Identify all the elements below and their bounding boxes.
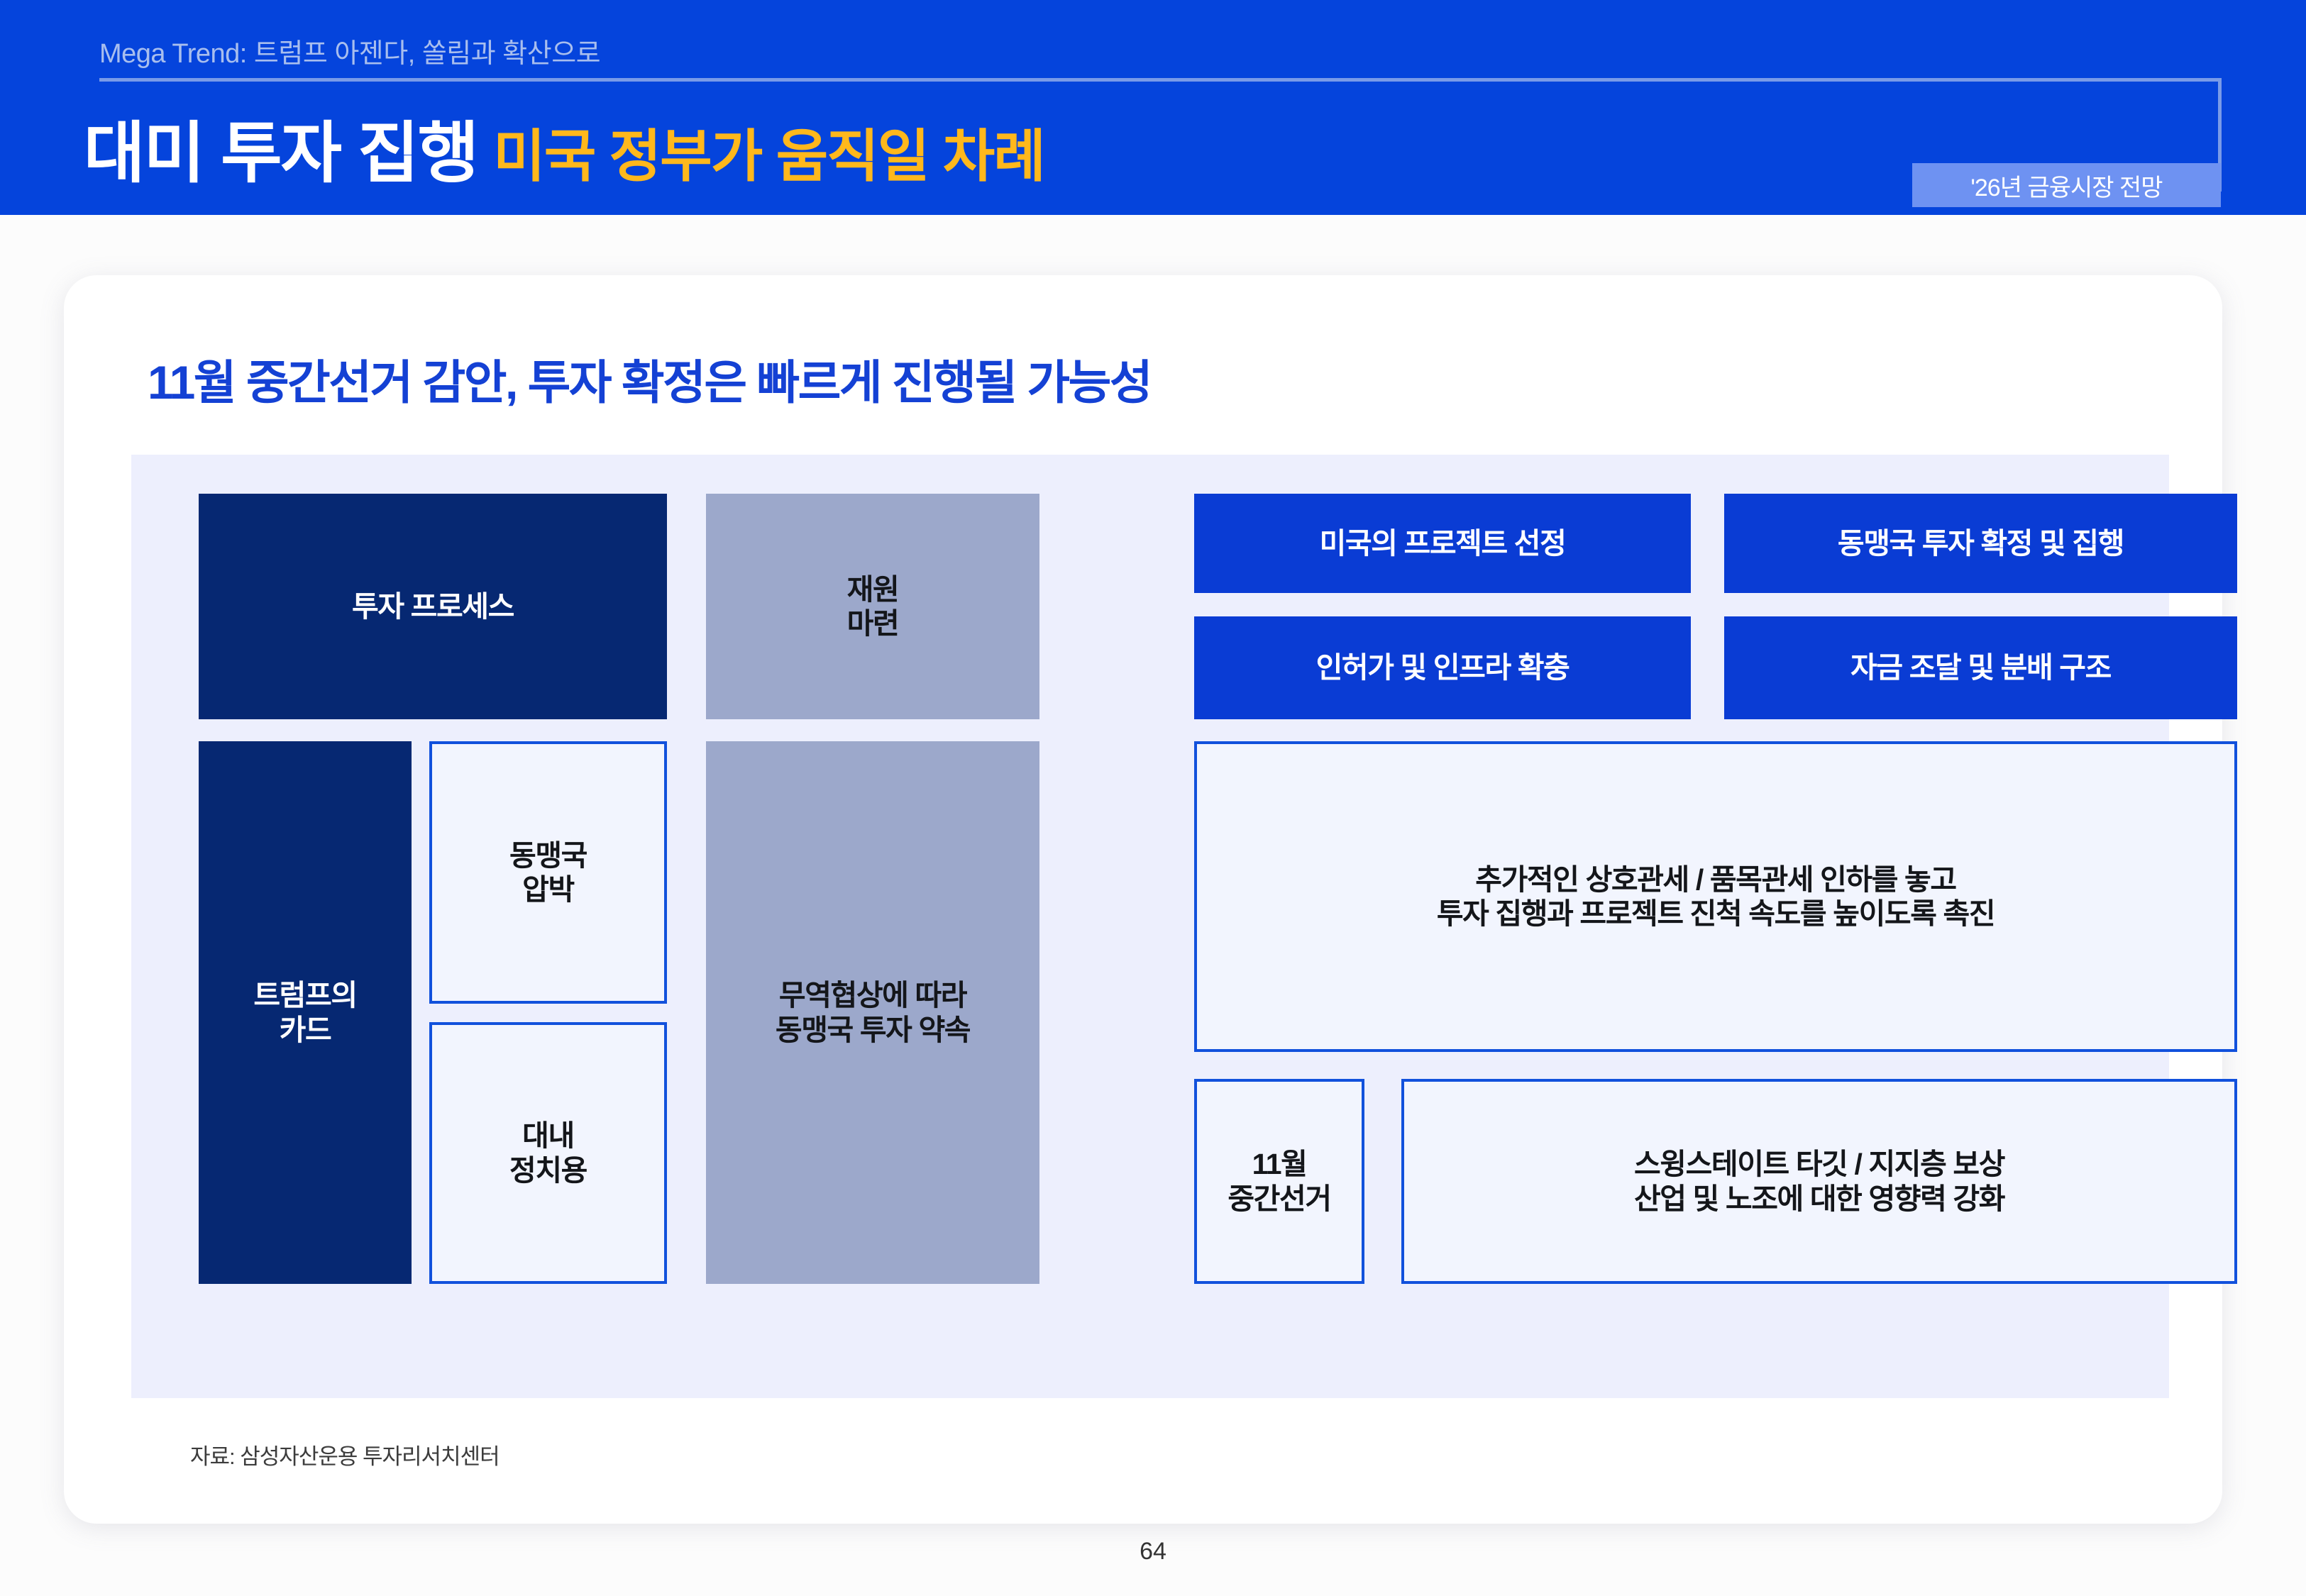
diagram-block-midterm-election: 11월 중간선거 — [1194, 1079, 1364, 1284]
diagram-block-label: 추가적인 상호관세 / 품목관세 인하를 놓고 투자 집행과 프로젝트 진척 속… — [1437, 863, 1995, 931]
diagram-block-label: 11월 중간선거 — [1228, 1147, 1330, 1216]
diagram-block-ally-investment: 동맹국 투자 확정 및 집행 — [1724, 494, 2237, 593]
card-heading: 11월 중간선거 감안, 투자 확정은 빠르게 진행될 가능성 — [148, 345, 1151, 413]
diagram-block-trump-card: 트럼프의 카드 — [199, 741, 412, 1284]
content-card: 11월 중간선거 감안, 투자 확정은 빠르게 진행될 가능성 투자 프로세스 … — [64, 275, 2222, 1524]
diagram-block-permitting-infra: 인허가 및 인프라 확충 — [1194, 616, 1691, 719]
header-eyebrow: Mega Trend: 트럼프 아젠다, 쏠림과 확산으로 — [99, 31, 600, 70]
page-number: 64 — [0, 1538, 2306, 1565]
slide-title-primary: 대미 투자 집행 — [84, 99, 478, 196]
slide-title: 대미 투자 집행 미국 정부가 움직일 차례 — [84, 99, 1044, 196]
diagram-block-trade-negotiation: 무역협상에 따라 동맹국 투자 약속 — [706, 741, 1039, 1284]
diagram-block-label: 동맹국 압박 — [509, 838, 587, 907]
diagram-block-swing-state: 스윙스테이트 타깃 / 지지층 보상 산업 및 노조에 대한 영향력 강화 — [1401, 1079, 2237, 1284]
diagram-block-tariff-promotion: 추가적인 상호관세 / 품목관세 인하를 놓고 투자 집행과 프로젝트 진척 속… — [1194, 741, 2237, 1052]
report-series-badge-label: '26년 금융시장 전망 — [1970, 168, 2162, 203]
diagram-block-label: 스윙스테이트 타깃 / 지지층 보상 산업 및 노조에 대한 영향력 강화 — [1634, 1147, 2004, 1216]
diagram-block-label: 자금 조달 및 분배 구조 — [1850, 650, 2111, 685]
diagram-block-investment-process: 투자 프로세스 — [199, 494, 667, 719]
slide-header-band: Mega Trend: 트럼프 아젠다, 쏠림과 확산으로 대미 투자 집행 미… — [0, 0, 2306, 215]
source-note: 자료: 삼성자산운용 투자리서치센터 — [190, 1439, 500, 1470]
diagram-block-label: 인허가 및 인프라 확충 — [1316, 650, 1569, 685]
diagram-block-label: 미국의 프로젝트 선정 — [1320, 526, 1566, 560]
diagram-block-funding-structure: 자금 조달 및 분배 구조 — [1724, 616, 2237, 719]
diagram-block-label: 대내 정치용 — [509, 1119, 587, 1187]
diagram-block-domestic-politics: 대내 정치용 — [429, 1022, 667, 1284]
diagram-block-ally-pressure: 동맹국 압박 — [429, 741, 667, 1004]
diagram-panel: 투자 프로세스 재원 마련 미국의 프로젝트 선정 동맹국 투자 확정 및 집행… — [131, 455, 2169, 1398]
diagram-block-label: 투자 프로세스 — [352, 589, 514, 624]
slide-title-secondary: 미국 정부가 움직일 차례 — [493, 111, 1044, 193]
diagram-block-project-selection: 미국의 프로젝트 선정 — [1194, 494, 1691, 593]
diagram-block-funding: 재원 마련 — [706, 494, 1039, 719]
diagram-block-label: 재원 마련 — [847, 572, 899, 641]
header-divider-line — [99, 78, 2221, 82]
diagram-block-label: 동맹국 투자 확정 및 집행 — [1838, 526, 2124, 560]
report-series-badge: '26년 금융시장 전망 — [1912, 163, 2221, 207]
diagram-block-label: 트럼프의 카드 — [253, 978, 356, 1047]
diagram-block-label: 무역협상에 따라 동맹국 투자 약속 — [776, 978, 970, 1047]
